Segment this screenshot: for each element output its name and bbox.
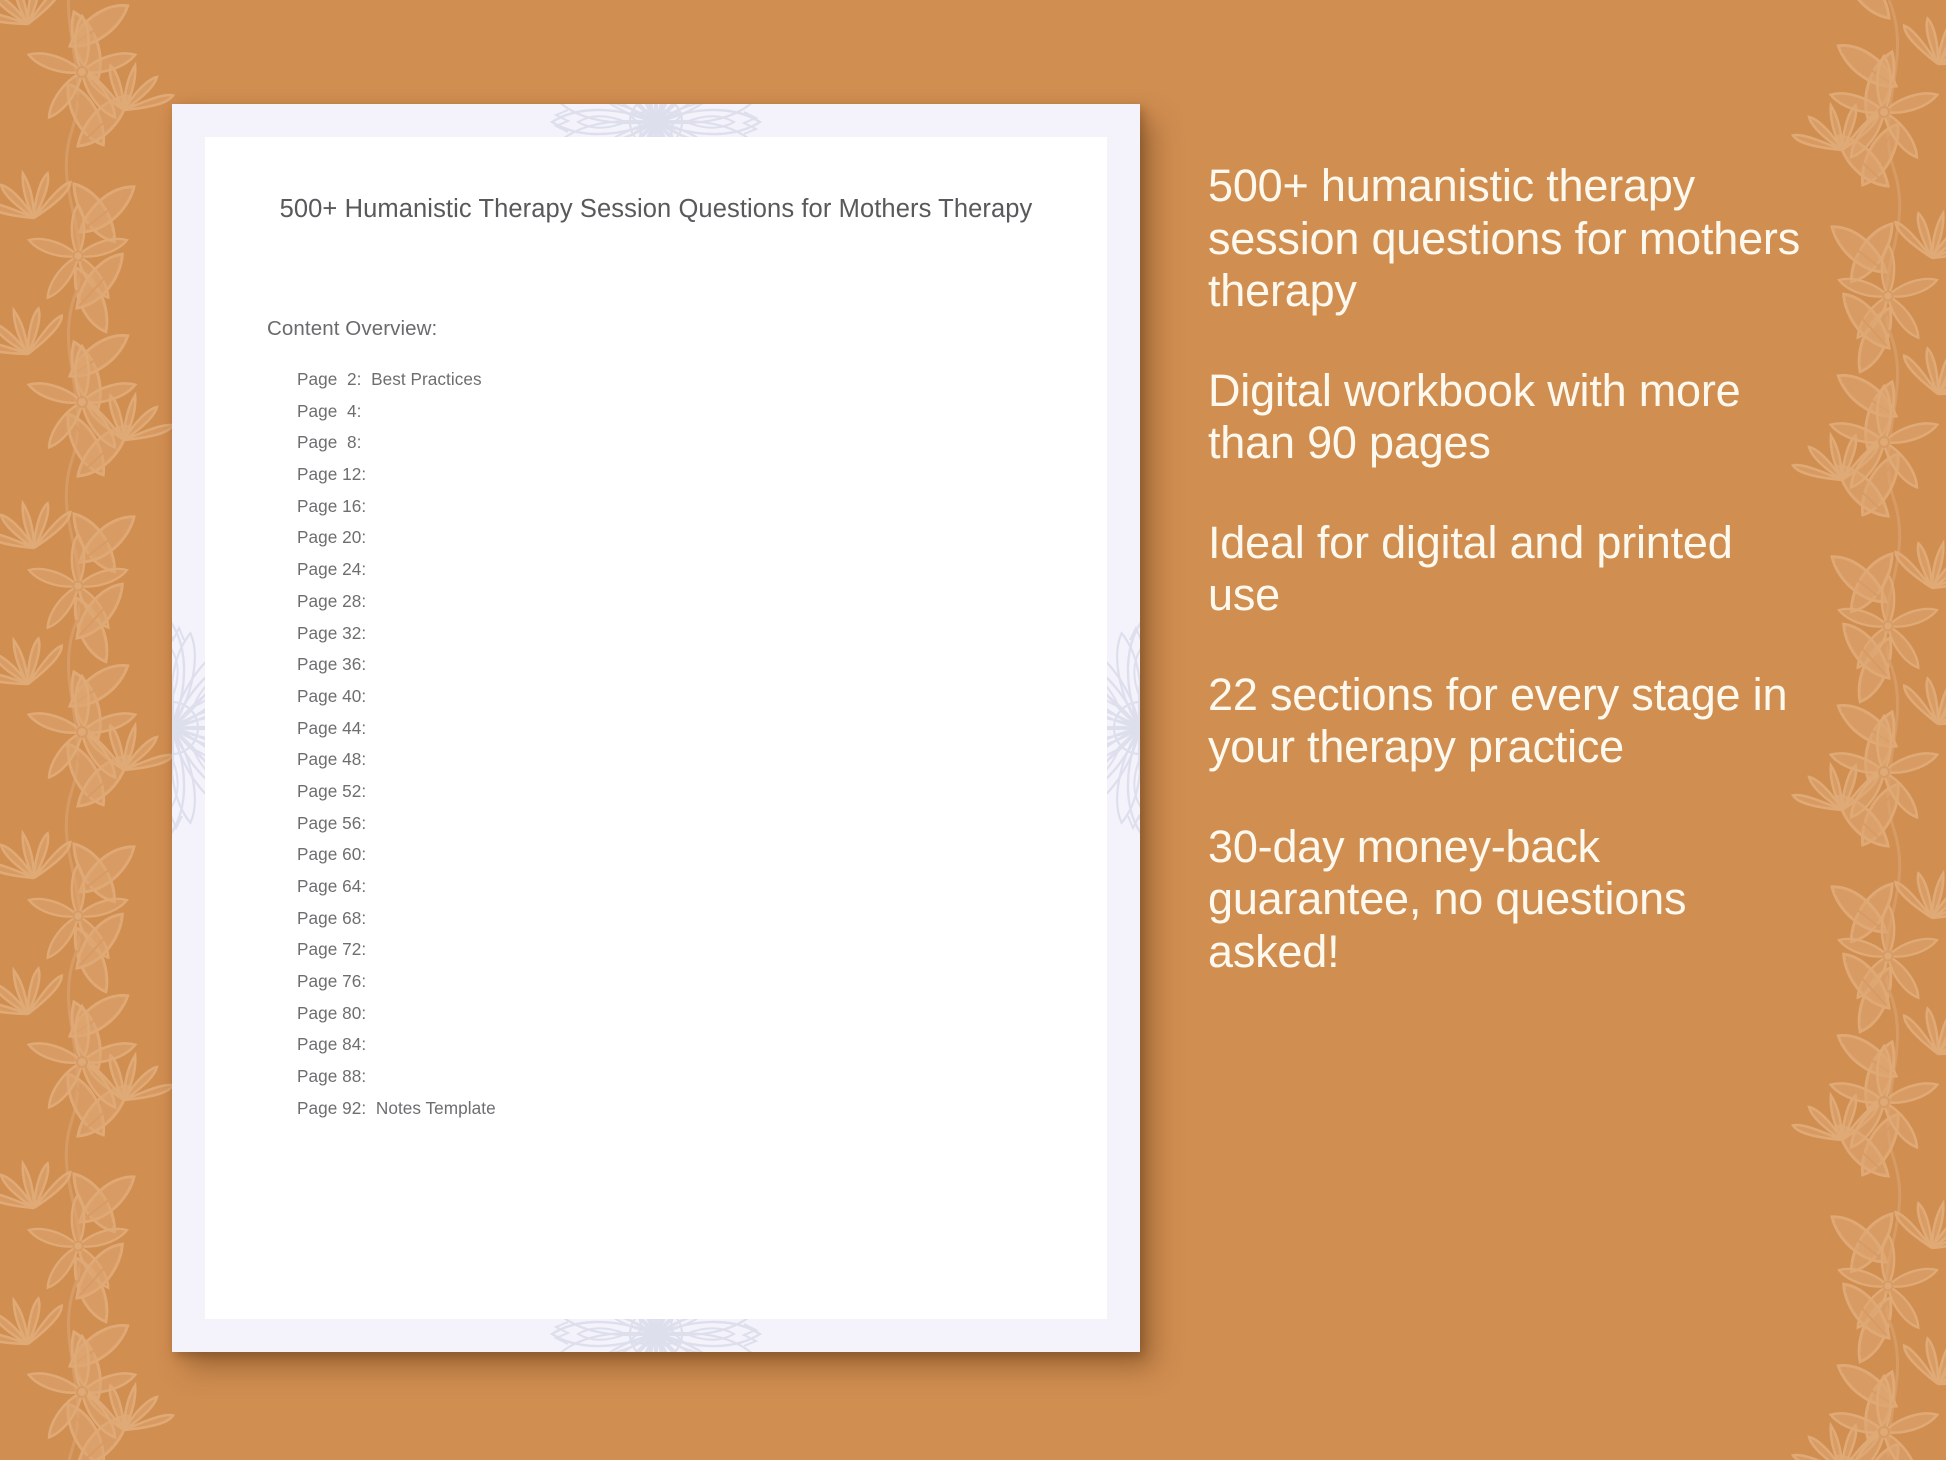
toc-row: Page 76: — [297, 971, 1057, 1003]
floral-vine-border-left-icon — [0, 0, 182, 1460]
toc-page-label: Page 56: — [297, 813, 366, 833]
marketing-bullet: 30-day money-back guarantee, no question… — [1208, 821, 1808, 979]
marketing-bullet: 22 sections for every stage in your ther… — [1208, 669, 1808, 774]
toc-row: Page 12: — [297, 464, 1057, 496]
document-title: 500+ Humanistic Therapy Session Question… — [265, 189, 1047, 229]
toc-page-label: Page 64: — [297, 876, 366, 896]
toc-page-label: Page 88: — [297, 1066, 366, 1086]
toc-row: Page 60: — [297, 844, 1057, 876]
toc-page-label: Page 40: — [297, 686, 366, 706]
toc-page-label: Page 8: — [297, 432, 361, 452]
content-overview-label: Content Overview: — [267, 317, 437, 341]
toc-row: Page 40: — [297, 686, 1057, 718]
toc-page-label: Page 76: — [297, 971, 366, 991]
toc-row: Page 4: — [297, 401, 1057, 433]
toc-section-title: Notes Template — [366, 1098, 495, 1118]
toc-row: Page 16: — [297, 496, 1057, 528]
toc-row: Page 20: — [297, 527, 1057, 559]
toc-row: Page 52: — [297, 781, 1057, 813]
toc-row: Page 2: Best Practices — [297, 369, 1057, 401]
toc-page-label: Page 44: — [297, 718, 366, 738]
toc-row: Page 36: — [297, 654, 1057, 686]
toc-row: Page 24: — [297, 559, 1057, 591]
toc-row: Page 28: — [297, 591, 1057, 623]
toc-page-label: Page 48: — [297, 749, 366, 769]
toc-section-title: Best Practices — [361, 369, 481, 389]
toc-page-label: Page 24: — [297, 559, 366, 579]
toc-page-label: Page 72: — [297, 939, 366, 959]
toc-page-label: Page 20: — [297, 527, 366, 547]
toc-page-label: Page 12: — [297, 464, 366, 484]
toc-page-label: Page 92: — [297, 1098, 366, 1118]
toc-page-label: Page 60: — [297, 844, 366, 864]
toc-page-label: Page 32: — [297, 623, 366, 643]
toc-page-label: Page 28: — [297, 591, 366, 611]
toc-page-label: Page 52: — [297, 781, 366, 801]
toc-page-label: Page 84: — [297, 1034, 366, 1054]
toc-page-label: Page 2: — [297, 369, 361, 389]
toc-page-label: Page 16: — [297, 496, 366, 516]
toc-row: Page 56: — [297, 813, 1057, 845]
toc-row: Page 80: — [297, 1003, 1057, 1035]
marketing-bullet: 500+ humanistic therapy session question… — [1208, 160, 1808, 318]
toc-page-label: Page 36: — [297, 654, 366, 674]
floral-vine-border-right-icon — [1784, 0, 1946, 1460]
toc-row: Page 64: — [297, 876, 1057, 908]
marketing-bullet: Digital workbook with more than 90 pages — [1208, 365, 1808, 470]
toc-row: Page 44: — [297, 718, 1057, 750]
toc-row: Page 68: — [297, 908, 1057, 940]
toc-row: Page 48: — [297, 749, 1057, 781]
toc-row: Page 32: — [297, 623, 1057, 655]
toc-row: Page 84: — [297, 1034, 1057, 1066]
toc-row: Page 88: — [297, 1066, 1057, 1098]
product-listing-image: 500+ Humanistic Therapy Session Question… — [0, 0, 1946, 1460]
toc-row: Page 8: — [297, 432, 1057, 464]
toc-row: Page 72: — [297, 939, 1057, 971]
document-page-content: 500+ Humanistic Therapy Session Question… — [205, 137, 1107, 1319]
toc-page-label: Page 68: — [297, 908, 366, 928]
document-page-preview: 500+ Humanistic Therapy Session Question… — [172, 104, 1140, 1352]
toc-page-label: Page 4: — [297, 401, 361, 421]
marketing-bullet: Ideal for digital and printed use — [1208, 517, 1808, 622]
toc-row: Page 92: Notes Template — [297, 1098, 1057, 1130]
table-of-contents: Page 2: Best PracticesPage 4:Page 8:Page… — [297, 369, 1057, 1130]
toc-page-label: Page 80: — [297, 1003, 366, 1023]
marketing-bullet-list: 500+ humanistic therapy session question… — [1208, 160, 1808, 978]
